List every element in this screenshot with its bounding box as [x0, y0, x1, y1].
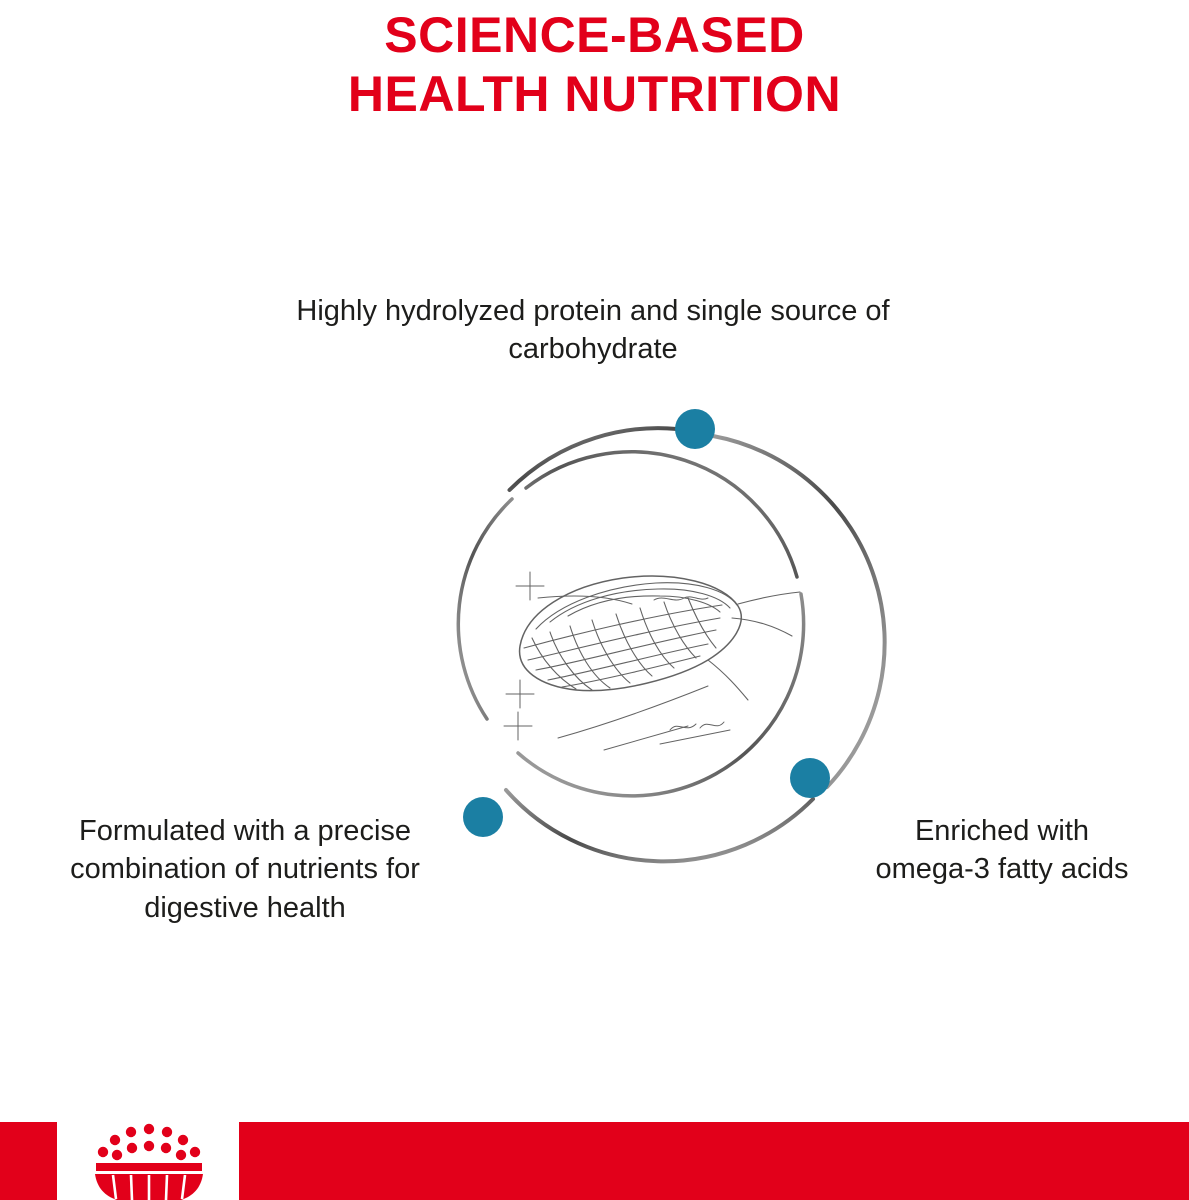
kibble-sketch-illustration [504, 572, 800, 750]
page-title-line-1: SCIENCE-BASED [0, 6, 1189, 65]
callout-top-text: Highly hydrolyzed protein and single sou… [243, 292, 943, 369]
royal-canin-crown-logo [76, 1122, 222, 1200]
marker-right-dot [790, 758, 830, 798]
marker-top-dot [675, 409, 715, 449]
callout-left-text: Formulated with a precise combination of… [55, 812, 435, 927]
callout-right-text: Enriched with omega-3 fatty acids [862, 812, 1142, 889]
marker-left-dot [463, 797, 503, 837]
page-title: SCIENCE-BASED HEALTH NUTRITION [0, 6, 1189, 124]
page-title-line-2: HEALTH NUTRITION [0, 65, 1189, 124]
crown-icon [76, 1122, 222, 1200]
inner-ring [458, 452, 803, 796]
feature-diagram [408, 398, 888, 878]
outer-ring [506, 428, 885, 861]
